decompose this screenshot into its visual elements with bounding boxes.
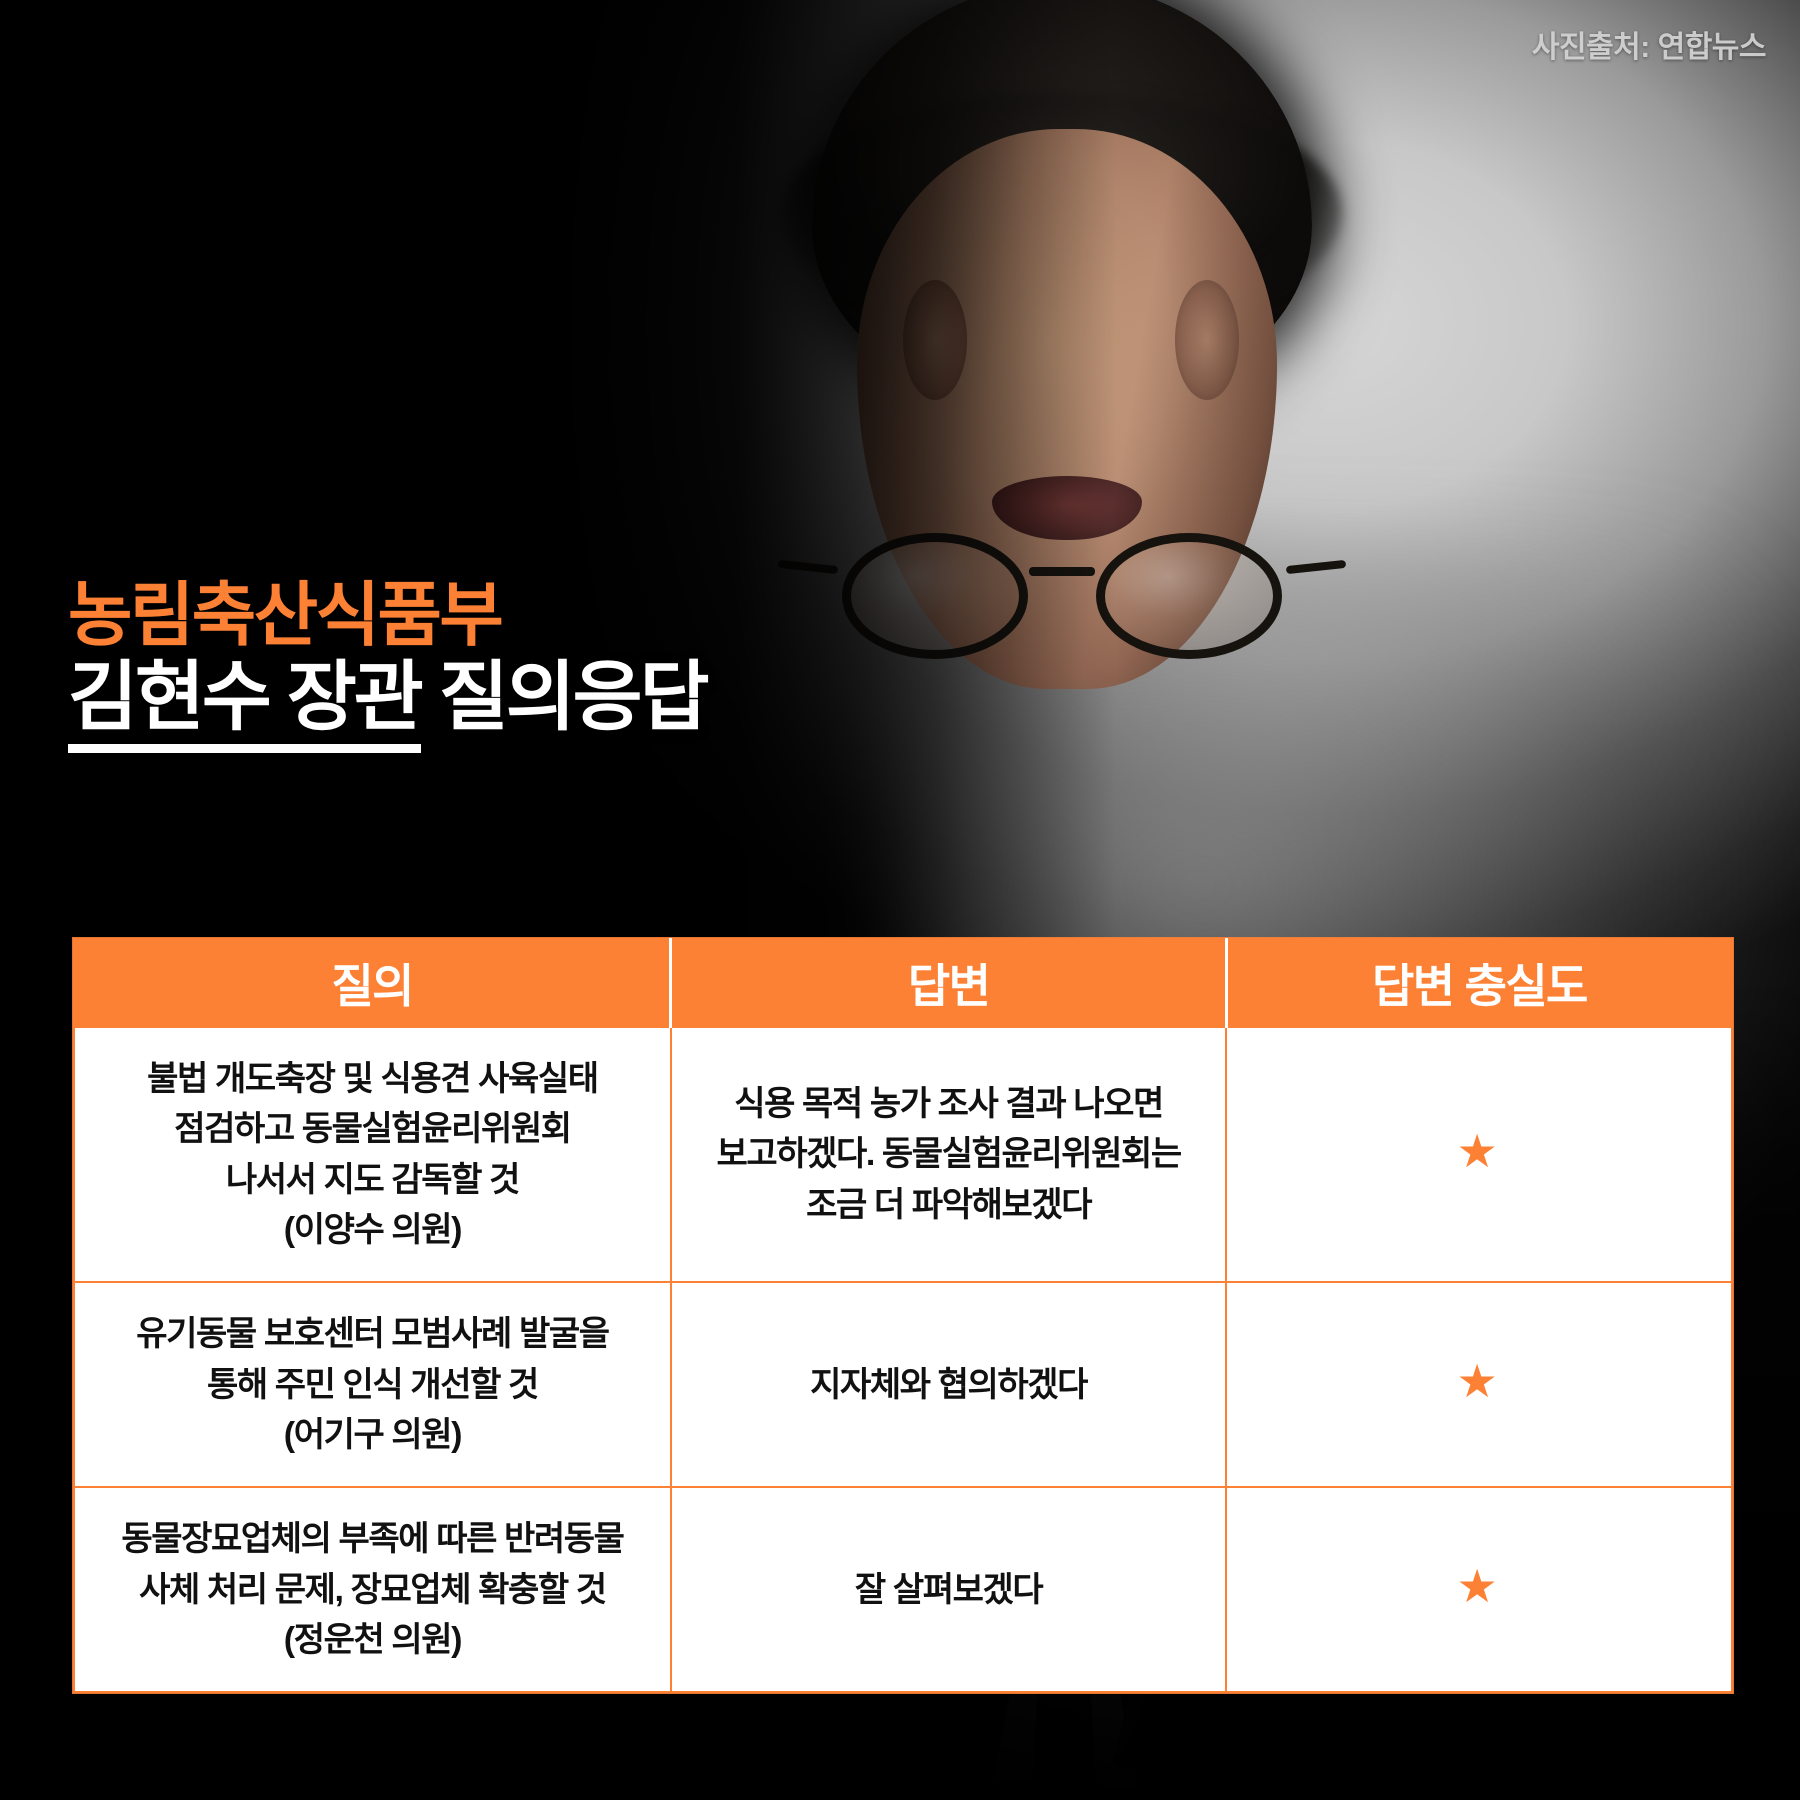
- answer-cell: 지자체와 협의하겠다: [671, 1282, 1226, 1487]
- ear-right-icon: [1175, 280, 1239, 400]
- lens-right: [1096, 533, 1282, 659]
- question-line: 나서서 지도 감독할 것: [93, 1155, 652, 1205]
- column-header-answer: 답변: [671, 939, 1226, 1027]
- table-row: 불법 개도축장 및 식용견 사육실태 점검하고 동물실험윤리위원회 나서서 지도…: [74, 1027, 1732, 1282]
- answer-line: 잘 살펴보겠다: [690, 1565, 1207, 1615]
- answer-line: 지자체와 협의하겠다: [690, 1360, 1207, 1410]
- glasses-temple-right: [1286, 560, 1347, 574]
- rating-cell: ★: [1226, 1487, 1732, 1692]
- qa-table-header: 질의 답변 답변 충실도: [74, 939, 1732, 1027]
- answer-line: 조금 더 파악해보겠다: [690, 1180, 1207, 1230]
- rating-cell: ★: [1226, 1027, 1732, 1282]
- question-author: (정운천 의원): [93, 1615, 652, 1665]
- headline-kicker: 농림축산식품부: [68, 578, 707, 652]
- star-icon: ★: [1457, 1355, 1502, 1407]
- answer-line: 보고하겠다. 동물실험윤리위원회는: [690, 1129, 1207, 1179]
- column-header-question: 질의: [74, 939, 671, 1027]
- question-cell: 유기동물 보호센터 모범사례 발굴을 통해 주민 인식 개선할 것 (어기구 의…: [74, 1282, 671, 1487]
- qa-table-body: 불법 개도축장 및 식용견 사육실태 점검하고 동물실험윤리위원회 나서서 지도…: [74, 1027, 1732, 1692]
- question-line: 점검하고 동물실험윤리위원회: [93, 1104, 652, 1154]
- question-line: 불법 개도축장 및 식용견 사육실태: [93, 1054, 652, 1104]
- question-line: 통해 주민 인식 개선할 것: [93, 1360, 652, 1410]
- answer-cell: 잘 살펴보겠다: [671, 1487, 1226, 1692]
- photo-credit: 사진출처: 연합뉴스: [1532, 22, 1766, 66]
- rating-cell: ★: [1226, 1282, 1732, 1487]
- qa-table: 질의 답변 답변 충실도 불법 개도축장 및 식용견 사육실태 점검하고 동물실…: [73, 938, 1733, 1693]
- question-line: 동물장묘업체의 부족에 따른 반려동물: [93, 1514, 652, 1564]
- star-icon: ★: [1457, 1125, 1502, 1177]
- question-cell: 동물장묘업체의 부족에 따른 반려동물 사체 처리 문제, 장묘업체 확충할 것…: [74, 1487, 671, 1692]
- page-title-rest: 질의응답: [421, 655, 707, 740]
- answer-line: 식용 목적 농가 조사 결과 나오면: [690, 1079, 1207, 1129]
- headline-block: 농림축산식품부 김현수 장관 질의응답: [68, 578, 707, 739]
- question-author: (어기구 의원): [93, 1410, 652, 1460]
- column-header-rating: 답변 충실도: [1226, 939, 1732, 1027]
- table-row: 유기동물 보호센터 모범사례 발굴을 통해 주민 인식 개선할 것 (어기구 의…: [74, 1282, 1732, 1487]
- table-header-row: 질의 답변 답변 충실도: [74, 939, 1732, 1027]
- question-cell: 불법 개도축장 및 식용견 사육실태 점검하고 동물실험윤리위원회 나서서 지도…: [74, 1027, 671, 1282]
- question-line: 유기동물 보호센터 모범사례 발굴을: [93, 1309, 652, 1359]
- star-icon: ★: [1457, 1560, 1502, 1612]
- page-title: 김현수 장관 질의응답: [68, 658, 707, 739]
- question-line: 사체 처리 문제, 장묘업체 확충할 것: [93, 1565, 652, 1615]
- table-row: 동물장묘업체의 부족에 따른 반려동물 사체 처리 문제, 장묘업체 확충할 것…: [74, 1487, 1732, 1692]
- infographic-card: 사진출처: 연합뉴스 농림축산식품부 김현수 장관 질의응답 질의 답변 답변 …: [0, 0, 1800, 1800]
- answer-cell: 식용 목적 농가 조사 결과 나오면 보고하겠다. 동물실험윤리위원회는 조금 …: [671, 1027, 1226, 1282]
- page-title-underlined-part: 김현수 장관: [68, 655, 421, 753]
- question-author: (이양수 의원): [93, 1205, 652, 1255]
